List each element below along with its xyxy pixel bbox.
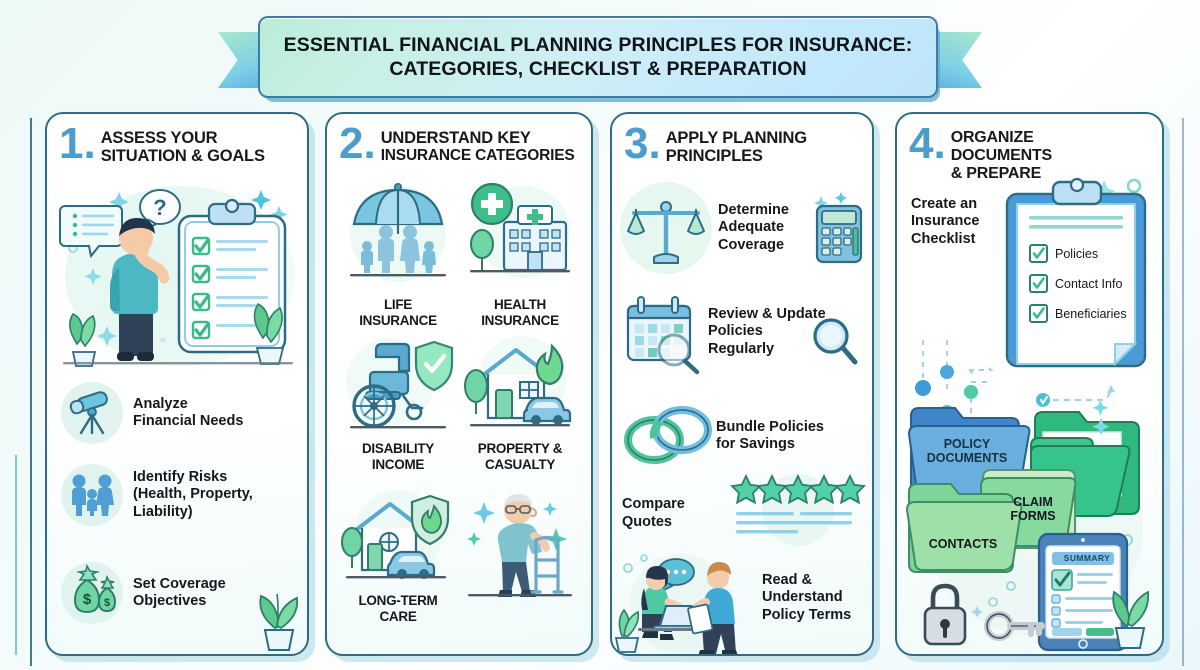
card2-title-line2: INSURANCE CATEGORIES xyxy=(381,147,575,164)
padlock-key-group xyxy=(915,580,1045,650)
card3-item-4-label: Read &UnderstandPolicy Terms xyxy=(762,572,851,624)
padlock-icon xyxy=(925,586,965,644)
magnifier-icon xyxy=(811,316,859,368)
card1-title: ASSESS YOUR SITUATION & GOALS xyxy=(101,124,265,166)
category-property-casualty[interactable]: PROPERTY &CASUALTY xyxy=(461,332,579,472)
checklist-item-1[interactable]: Contact Info xyxy=(1029,274,1122,293)
card3-item-1[interactable]: Review & UpdatePoliciesRegularly xyxy=(620,292,872,372)
card4-title-line2: DOCUMENTS xyxy=(951,147,1052,165)
card-assess-situation[interactable]: 1. ASSESS YOUR SITUATION & GOALS xyxy=(45,112,309,656)
card3-title-line2: PRINCIPLES xyxy=(666,147,807,165)
card-organize-documents[interactable]: 4. ORGANIZE DOCUMENTS & PREPARE Create a… xyxy=(895,112,1164,656)
card1-item-0[interactable]: AnalyzeFinancial Needs xyxy=(61,382,297,444)
category-elderly-walker xyxy=(461,484,579,609)
card2-title-line1: UNDERSTAND KEY xyxy=(381,129,575,147)
category-life-insurance[interactable]: LIFEINSURANCE xyxy=(339,178,457,328)
checklist-item-1-label: Contact Info xyxy=(1055,277,1122,291)
checkbox-checked-icon[interactable] xyxy=(1029,244,1048,263)
wheelchair-shield-icon xyxy=(342,332,454,432)
banner-title-line1: ESSENTIAL FINANCIAL PLANNING PRINCIPLES … xyxy=(284,33,913,57)
linked-rings-icon xyxy=(620,400,712,472)
star-rating-icon xyxy=(730,474,860,553)
banner-title-line2: CATEGORIES, CHECKLIST & PREPARATION xyxy=(284,57,913,81)
svg-text:?: ? xyxy=(153,195,166,220)
card1-item-1[interactable]: Identify Risks(Health, Property,Liabilit… xyxy=(61,464,297,526)
card3-item-4[interactable]: Read &UnderstandPolicy Terms xyxy=(614,550,872,654)
plant-icon xyxy=(1098,572,1158,652)
card4-checklist-heading: Create anInsuranceChecklist xyxy=(911,196,1005,248)
hospital-cross-icon xyxy=(464,178,576,288)
svg-text:$: $ xyxy=(104,597,110,609)
insurance-checklist-clipboard[interactable]: Policies Contact Info Beneficiaries xyxy=(1001,174,1153,374)
calendar-magnifier-icon xyxy=(620,292,704,372)
category-disability-income-label: DISABILITYINCOME xyxy=(339,441,457,472)
card-planning-principles[interactable]: 3. APPLY PLANNING PRINCIPLES D xyxy=(610,112,874,656)
card3-item-0-label: DetermineAdequateCoverage xyxy=(718,202,813,254)
card1-item-1-label: Identify Risks(Health, Property,Liabilit… xyxy=(133,469,253,521)
checklist-item-2-label: Beneficiaries xyxy=(1055,307,1127,321)
family-icon xyxy=(61,464,123,526)
checklist-item-0[interactable]: Policies xyxy=(1029,244,1098,263)
card-insurance-categories[interactable]: 2. UNDERSTAND KEY INSURANCE CATEGORIES xyxy=(325,112,593,656)
banner-text: ESSENTIAL FINANCIAL PLANNING PRINCIPLES … xyxy=(270,33,927,81)
money-bags-icon: $ $ xyxy=(61,562,123,624)
card4-number: 4. xyxy=(909,124,946,164)
card1-title-line1: ASSESS YOUR xyxy=(101,129,265,147)
telescope-icon xyxy=(61,382,123,444)
house-car-fire-icon xyxy=(464,332,576,432)
tablet-summary-label: SUMMARY xyxy=(1059,553,1115,563)
category-disability-income[interactable]: DISABILITYINCOME xyxy=(339,332,457,472)
card3-item-0[interactable]: DetermineAdequateCoverage xyxy=(620,182,872,274)
house-car-shield-icon xyxy=(342,484,454,584)
card2-header: 2. UNDERSTAND KEY INSURANCE CATEGORIES xyxy=(339,124,583,165)
category-property-casualty-label: PROPERTY &CASUALTY xyxy=(461,441,579,472)
card3-title-line1: APPLY PLANNING xyxy=(666,129,807,147)
folder-label-contacts: CONTACTS xyxy=(915,538,1011,552)
card1-number: 1. xyxy=(59,124,96,164)
checklist-item-2[interactable]: Beneficiaries xyxy=(1029,304,1127,323)
illustration-person-thinking-with-clipboard: ? xyxy=(57,176,301,376)
svg-text:$: $ xyxy=(83,591,92,608)
card3-item-2[interactable]: Bundle Policiesfor Savings xyxy=(620,400,872,472)
key-icon xyxy=(987,614,1041,638)
category-health-insurance[interactable]: HEALTHINSURANCE xyxy=(461,178,579,328)
card1-title-line2: SITUATION & GOALS xyxy=(101,147,265,165)
category-long-term-care[interactable]: LONG-TERMCARE xyxy=(339,484,457,624)
card3-item-3-label: CompareQuotes xyxy=(622,496,730,531)
folder-label-claim-forms: CLAIMFORMS xyxy=(991,496,1075,524)
card3-item-2-label: Bundle Policiesfor Savings xyxy=(716,419,824,454)
card1-item-0-label: AnalyzeFinancial Needs xyxy=(133,396,243,431)
card2-title: UNDERSTAND KEY INSURANCE CATEGORIES xyxy=(381,124,575,165)
card3-number: 3. xyxy=(624,124,661,164)
banner-plate: ESSENTIAL FINANCIAL PLANNING PRINCIPLES … xyxy=(258,16,938,98)
card3-item-3[interactable]: CompareQuotes xyxy=(622,474,872,553)
elderly-walker-icon xyxy=(464,484,576,604)
calculator-icon xyxy=(811,192,865,264)
umbrella-family-icon xyxy=(342,178,454,288)
scales-balance-icon xyxy=(620,182,712,274)
cards-container: 1. ASSESS YOUR SITUATION & GOALS xyxy=(0,112,1200,660)
title-banner: ESSENTIAL FINANCIAL PLANNING PRINCIPLES … xyxy=(218,10,982,98)
category-life-insurance-label: LIFEINSURANCE xyxy=(339,297,457,328)
card2-number: 2. xyxy=(339,124,376,164)
card4-title-line1: ORGANIZE xyxy=(951,129,1052,147)
card1-header: 1. ASSESS YOUR SITUATION & GOALS xyxy=(59,124,299,166)
checkbox-checked-icon[interactable] xyxy=(1029,274,1048,293)
checklist-item-0-label: Policies xyxy=(1055,247,1098,261)
card1-item-2-label: Set CoverageObjectives xyxy=(133,576,226,611)
card3-title: APPLY PLANNING PRINCIPLES xyxy=(666,124,807,166)
card3-header: 3. APPLY PLANNING PRINCIPLES xyxy=(624,124,864,166)
two-people-laptop-icon xyxy=(614,550,762,654)
checkbox-checked-icon[interactable] xyxy=(1029,304,1048,323)
plant-icon xyxy=(247,584,307,654)
category-long-term-care-label: LONG-TERMCARE xyxy=(339,593,457,624)
category-health-insurance-label: HEALTHINSURANCE xyxy=(461,297,579,328)
folder-label-policy-documents: POLICYDOCUMENTS xyxy=(917,438,1017,466)
